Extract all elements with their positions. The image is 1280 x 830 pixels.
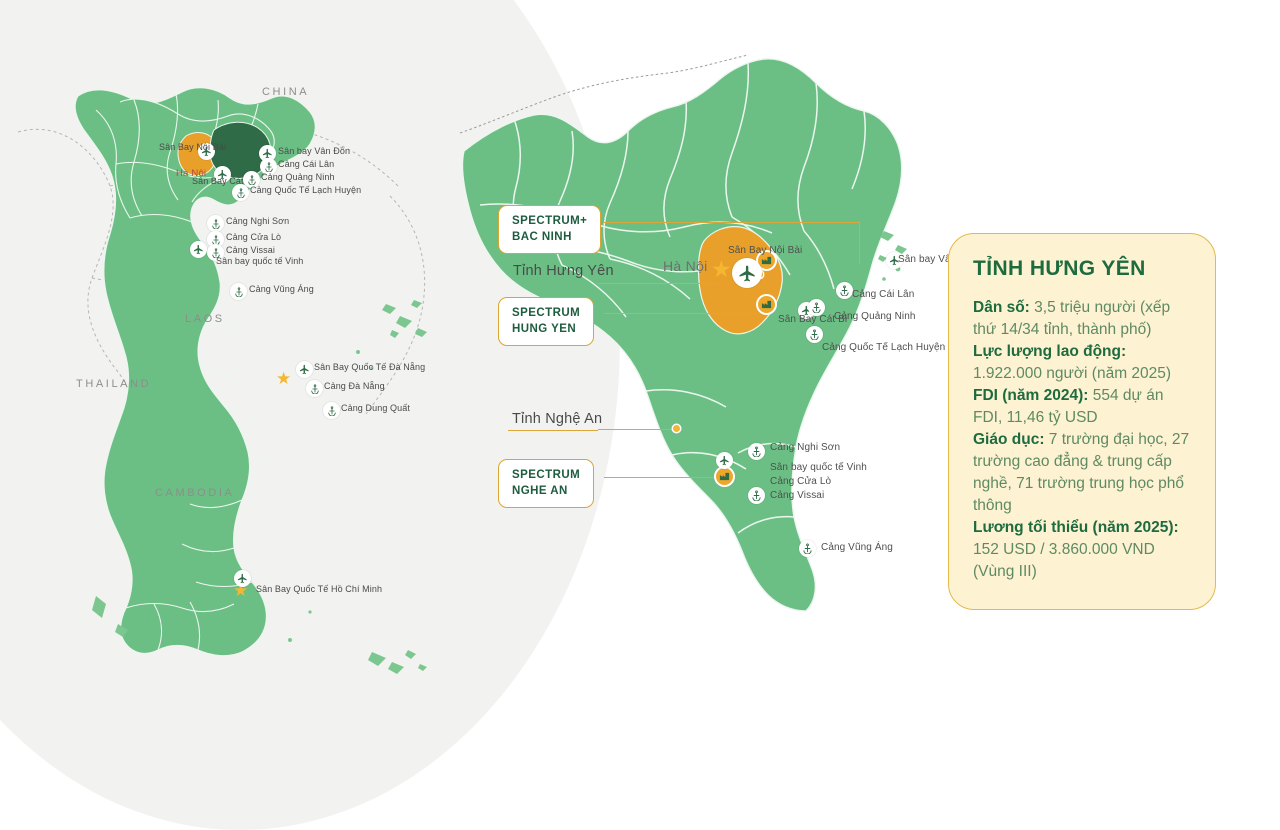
label-san-bay-cat-bi: Sân Bay Cát Bi bbox=[192, 176, 240, 186]
info-label-dan-so: Dân số: bbox=[973, 299, 1030, 316]
factory-icon-badge-nghe-an[interactable] bbox=[716, 468, 733, 485]
label-cang-vissai-detail: Cảng Vissai bbox=[770, 490, 824, 502]
anchor-icon-badge-vung-ang[interactable] bbox=[230, 283, 247, 300]
label-san-bay-van-don: Sân bay Vân Đồn bbox=[278, 146, 350, 156]
anchor-icon-badge-vung-ang-detail[interactable] bbox=[799, 540, 816, 557]
da-nang-star: ★ bbox=[276, 370, 291, 387]
label-cang-cai-lan: Cảng Cái Lân bbox=[278, 159, 334, 169]
info-row-lao-dong: Lực lượng lao động: 1.922.000 người (năm… bbox=[973, 341, 1191, 385]
label-san-bay-vinh: Sân bay quốc tế Vinh bbox=[216, 256, 303, 266]
anchor-icon-badge-nghi-son[interactable] bbox=[207, 215, 224, 232]
label-cang-cua-lo-detail: Cảng Cửa Lò bbox=[770, 476, 831, 488]
callout-spectrum-nghe-an[interactable]: SPECTRUM NGHE AN bbox=[498, 459, 594, 508]
label-cang-lach-huyen-detail: Cảng Quốc Tế Lạch Huyện bbox=[822, 342, 945, 354]
callout-spectrum-bac-ninh[interactable]: SPECTRUM+ BAC NINH bbox=[498, 205, 601, 254]
label-cang-vissai: Cảng Vissai bbox=[226, 245, 275, 255]
hung-yen-star: ★ bbox=[711, 258, 732, 281]
airplane-icon-badge-vinh[interactable] bbox=[190, 241, 207, 258]
info-row-dan-so: Dân số: 3,5 triệu người (xếp thứ 14/34 t… bbox=[973, 297, 1191, 341]
nghe-an-anchor-dot bbox=[673, 425, 680, 432]
info-value-lao-dong: 1.922.000 người (năm 2025) bbox=[973, 365, 1171, 382]
anchor-icon-badge-cai-lan-detail[interactable] bbox=[836, 282, 853, 299]
info-card-title: TỈNH HƯNG YÊN bbox=[973, 256, 1191, 281]
airplane-icon-badge-da-nang[interactable] bbox=[296, 361, 313, 378]
info-label-fdi: FDI (năm 2024): bbox=[973, 387, 1088, 404]
info-label-lao-dong: Lực lượng lao động: bbox=[973, 343, 1126, 360]
country-label-cambodia: CAMBODIA bbox=[155, 487, 234, 499]
label-cang-lach-huyen: Cảng Quốc Tế Lạch Huyện bbox=[250, 185, 361, 195]
province-label-nghe-an: Tỉnh Nghệ An bbox=[512, 411, 602, 427]
country-label-laos: LAOS bbox=[185, 313, 225, 325]
country-label-china: CHINA bbox=[262, 86, 309, 98]
label-cang-cai-lan-detail: Cảng Cái Lân bbox=[852, 289, 914, 301]
province-label-hung-yen: Tỉnh Hưng Yên bbox=[513, 263, 614, 279]
leader-nghe-an-site bbox=[604, 477, 727, 478]
info-value-luong-toi-thieu: 152 USD / 3.860.000 VND (Vùng III) bbox=[973, 541, 1155, 580]
callout-bac-ninh-line1: SPECTRUM+ bbox=[512, 214, 587, 230]
label-san-bay-ho-chi-minh: Sân Bay Quốc Tế Hồ Chí Minh bbox=[256, 584, 382, 594]
label-cang-quang-ninh-detail: Cảng Quảng Ninh bbox=[834, 311, 916, 323]
airplane-icon-badge-noi-bai-detail[interactable] bbox=[732, 258, 762, 288]
label-cang-cua-lo: Cảng Cửa Lò bbox=[226, 232, 281, 242]
anchor-icon-badge-lach-huyen-detail[interactable] bbox=[806, 326, 823, 343]
label-cang-vung-ang: Cảng Vũng Áng bbox=[249, 284, 314, 294]
leader-hung-yen bbox=[604, 313, 769, 314]
leader-bac-ninh bbox=[604, 222, 860, 223]
label-san-bay-noi-bai-detail: Sân Bay Nội Bài bbox=[728, 245, 780, 256]
vietnam-overview-map bbox=[0, 0, 470, 720]
detail-place-hanoi: Hà Nội bbox=[663, 258, 708, 274]
label-cang-da-nang: Cảng Đà Nẵng bbox=[324, 381, 385, 391]
label-san-bay-cat-bi-detail: Sân Bay Cát Bi bbox=[778, 314, 828, 325]
leader-nghe-an-province bbox=[598, 429, 678, 430]
label-san-bay-noi-bai: Sân Bay Nội Bài bbox=[159, 142, 199, 152]
airplane-icon-badge-vinh-detail[interactable] bbox=[716, 452, 733, 469]
label-cang-dung-quat: Cảng Dung Quất bbox=[341, 403, 410, 413]
anchor-icon-badge-da-nang[interactable] bbox=[306, 380, 323, 397]
info-label-luong-toi-thieu: Lương tối thiểu (năm 2025): bbox=[973, 519, 1179, 536]
hung-yen-info-card: TỈNH HƯNG YÊN Dân số: 3,5 triệu người (x… bbox=[948, 233, 1216, 610]
info-row-giao-duc: Giáo dục: 7 trường đại học, 27 trường ca… bbox=[973, 429, 1191, 517]
nghe-an-label-underline bbox=[508, 430, 598, 431]
anchor-icon-badge-dung-quat[interactable] bbox=[323, 402, 340, 419]
label-san-bay-vinh-detail: Sân bay quốc tế Vinh bbox=[770, 462, 867, 474]
anchor-icon-badge-quang-ninh-detail[interactable] bbox=[808, 299, 825, 316]
country-label-thailand: THAILAND bbox=[76, 378, 151, 390]
callout-hung-yen-line2: HUNG YEN bbox=[512, 322, 580, 338]
anchor-icon-badge-cua-lo-detail[interactable] bbox=[748, 487, 765, 504]
callout-nghe-an-line1: SPECTRUM bbox=[512, 468, 580, 484]
callout-hung-yen-line1: SPECTRUM bbox=[512, 306, 580, 322]
callout-spectrum-hung-yen[interactable]: SPECTRUM HUNG YEN bbox=[498, 297, 594, 346]
callout-nghe-an-line2: NGHE AN bbox=[512, 484, 580, 500]
info-row-fdi: FDI (năm 2024): 554 dự án FDI, 11,46 tỷ … bbox=[973, 385, 1191, 429]
anchor-icon-badge-nghi-son-detail[interactable] bbox=[748, 443, 765, 460]
label-cang-nghi-son: Cảng Nghi Sơn bbox=[226, 216, 289, 226]
anchor-icon-badge-lach-huyen[interactable] bbox=[232, 184, 249, 201]
label-san-bay-van-don-detail: Sân bay Vân Đồn bbox=[898, 254, 952, 265]
leader-hung-yen-top bbox=[598, 283, 718, 284]
label-cang-nghi-son-detail: Cảng Nghi Sơn bbox=[770, 442, 840, 454]
label-cang-vung-ang-detail: Cảng Vũng Áng bbox=[821, 542, 893, 554]
airplane-icon-badge-ho-chi-minh[interactable] bbox=[234, 570, 251, 587]
info-row-luong-toi-thieu: Lương tối thiểu (năm 2025): 152 USD / 3.… bbox=[973, 517, 1191, 583]
infographic-canvas: CHINA LAOS THAILAND CAMBODIA Hà Nội ★ ★ … bbox=[0, 0, 1280, 720]
label-cang-quang-ninh: Cảng Quảng Ninh bbox=[261, 172, 335, 182]
leader-bac-ninh-vertical bbox=[859, 222, 860, 264]
callout-bac-ninh-line2: BAC NINH bbox=[512, 230, 587, 246]
label-san-bay-da-nang: Sân Bay Quốc Tế Đà Nẵng bbox=[314, 362, 425, 372]
factory-icon-badge-hung-yen[interactable] bbox=[758, 296, 775, 313]
info-label-giao-duc: Giáo dục: bbox=[973, 431, 1044, 448]
